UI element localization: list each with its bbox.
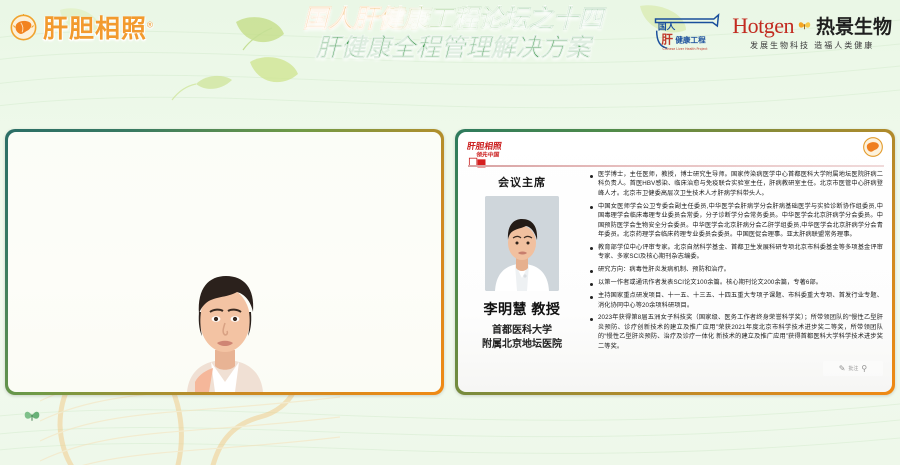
bio-role: 会议主席 bbox=[498, 174, 546, 190]
slide-panel[interactable]: 肝胆相照 领先中国 会议主席 bbox=[455, 129, 895, 395]
brand-left: 肝胆相照® bbox=[10, 9, 154, 45]
bio-bullet-text: 教育部学位中心评审专家。北京自然科学基金、首都卫生发展科研专项北京市科委基金等多… bbox=[598, 243, 883, 262]
event-title: 国人肝健康工程论坛之十四 肝健康全程管理解决方案 bbox=[288, 6, 618, 62]
hotgen-brand: Hotgen 热景生物 发展生物科技 造福人类健康 bbox=[732, 15, 892, 51]
bullet-dot-icon bbox=[590, 283, 593, 286]
bio-bullet-text: 以第一作者或通讯作者发表SCI论文100余篇。核心期刊论文200余篇，专著6部。 bbox=[598, 278, 822, 287]
bio-portrait bbox=[485, 196, 559, 291]
ganndanxiangzhao-seal-icon: 肝胆相照 领先中国 bbox=[467, 138, 519, 168]
svg-text:Chinese Liver Health Project: Chinese Liver Health Project bbox=[663, 47, 709, 51]
bio-bullet: 研究方向：病毒性肝炎发病机制、预防和治疗。 bbox=[590, 265, 883, 274]
liver-heart-circle-icon bbox=[10, 14, 37, 41]
video-feed[interactable] bbox=[8, 132, 441, 392]
magnifier-icon[interactable]: ⚲ bbox=[861, 364, 867, 373]
header-banner: 肝胆相照® 国人肝健康工程论坛之十四 肝健康全程管理解决方案 国人 肝 健康工程… bbox=[0, 0, 900, 125]
bio-bullet: 医学博士，主任医师，教授，博士研究生导师。国家传染病医学中心首都医科大学附属地坛… bbox=[590, 170, 883, 198]
bio-column: 会议主席 bbox=[458, 132, 586, 392]
bio-org: 首都医科大学 附属北京地坛医院 bbox=[482, 324, 562, 351]
bio-bullet: 2023年获得第8届五洲女子科技奖（国家级、医务工作者终身荣誉科学奖）；所带领团… bbox=[590, 313, 883, 351]
event-title-line1: 国人肝健康工程论坛之十四 bbox=[288, 6, 618, 32]
slide-content: 肝胆相照 领先中国 会议主席 bbox=[458, 132, 892, 392]
bio-org-line1: 首都医科大学 bbox=[482, 324, 562, 338]
bullet-dot-icon bbox=[590, 175, 593, 178]
chinese-liver-health-project-icon: 国人 肝 健康工程 Chinese Liver Health Project bbox=[652, 13, 722, 53]
footer-strip bbox=[0, 400, 900, 465]
brand-right: 国人 肝 健康工程 Chinese Liver Health Project H… bbox=[652, 13, 892, 53]
bullet-dot-icon bbox=[590, 296, 593, 299]
portrait-image bbox=[485, 196, 559, 291]
hotgen-wordmark: Hotgen bbox=[732, 15, 794, 37]
bullet-dot-icon bbox=[590, 270, 593, 273]
liver-circle-icon bbox=[862, 136, 884, 158]
hotgen-tagline: 发展生物科技 造福人类健康 bbox=[750, 40, 874, 51]
bio-bullet-text: 中国女医师学会公卫专委会副主任委员,中华医学会肝病学分会肝病基础医学与实验诊断协… bbox=[598, 202, 883, 240]
svg-text:国人: 国人 bbox=[658, 20, 676, 32]
bullet-dot-icon bbox=[590, 318, 593, 321]
bio-bullet-text: 研究方向：病毒性肝炎发病机制、预防和治疗。 bbox=[598, 265, 730, 274]
bio-bullet-list: 医学博士，主任医师，教授，博士研究生导师。国家传染病医学中心首都医科大学附属地坛… bbox=[586, 132, 892, 392]
registered-mark: ® bbox=[147, 21, 154, 30]
bio-bullet-text: 2023年获得第8届五洲女子科技奖（国家级、医务工作者终身荣誉科学奖）；所带领团… bbox=[598, 313, 883, 351]
bio-bullet: 教育部学位中心评审专家。北京自然科学基金、首都卫生发展科研专项北京市科委基金等多… bbox=[590, 243, 883, 262]
pen-icon[interactable]: ✎ bbox=[839, 364, 846, 373]
bullet-dot-icon bbox=[590, 247, 593, 250]
bio-org-line2: 附属北京地坛医院 bbox=[482, 338, 562, 352]
bio-bullet: 主持国家重点研发项目、十一五、十三五、十四五重大专项子课题、市科委重大专项、首发… bbox=[590, 291, 883, 310]
bio-name: 李明慧 教授 bbox=[484, 299, 561, 319]
svg-text:肝胆相照: 肝胆相照 bbox=[467, 140, 503, 152]
speaker-video-image bbox=[165, 232, 285, 392]
bio-bullet-text: 医学博士，主任医师，教授，博士研究生导师。国家传染病医学中心首都医科大学附属地坛… bbox=[598, 170, 883, 198]
annotate-label: 批注 bbox=[848, 365, 858, 372]
bullet-dot-icon bbox=[590, 206, 593, 209]
stage: 肝胆相照 领先中国 会议主席 bbox=[0, 125, 900, 400]
brand-left-text: 肝胆相照® bbox=[43, 9, 154, 45]
bio-bullet: 以第一作者或通讯作者发表SCI论文100余篇。核心期刊论文200余篇，专著6部。 bbox=[590, 278, 883, 287]
svg-text:肝: 肝 bbox=[662, 33, 674, 47]
video-panel[interactable] bbox=[5, 129, 444, 395]
annotation-toolbar-watermark[interactable]: ✎ 批注 ⚲ bbox=[823, 361, 883, 376]
bio-bullet-text: 主持国家重点研发项目、十一五、十三五、十四五重大专项子课题、市科委重大专项、首发… bbox=[598, 291, 883, 310]
event-title-line2: 肝健康全程管理解决方案 bbox=[288, 35, 618, 61]
butterfly-icon bbox=[22, 408, 42, 424]
svg-text:健康工程: 健康工程 bbox=[676, 34, 707, 44]
app-root: 肝胆相照® 国人肝健康工程论坛之十四 肝健康全程管理解决方案 国人 肝 健康工程… bbox=[0, 0, 900, 465]
slide-divider bbox=[468, 165, 884, 167]
butterfly-icon bbox=[797, 18, 812, 33]
bio-bullet: 中国女医师学会公卫专委会副主任委员,中华医学会肝病学分会肝病基础医学与实验诊断协… bbox=[590, 202, 883, 240]
hotgen-name-cn: 热景生物 bbox=[816, 18, 892, 37]
